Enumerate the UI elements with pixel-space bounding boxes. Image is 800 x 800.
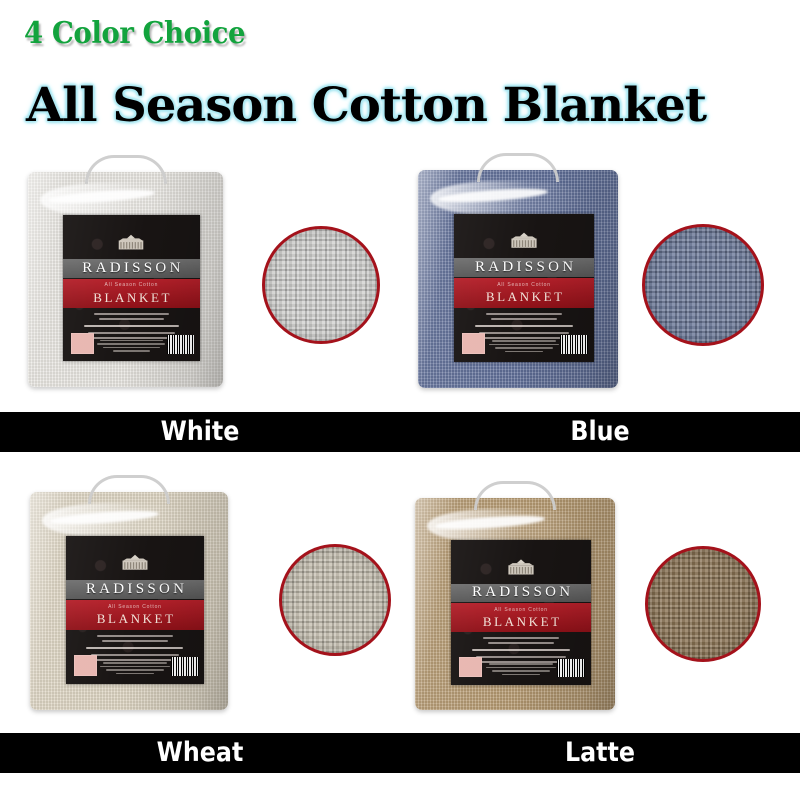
product-listing-image: 4 Color Choice All Season Cotton Blanket	[0, 0, 800, 800]
package-shading	[28, 172, 223, 387]
fabric-swatch-white	[262, 226, 380, 344]
fabric-swatch-blue	[642, 224, 764, 346]
caption-blue: Blue	[424, 412, 776, 452]
product-cell-blue: RADISSON All Season Cotton BLANKET	[400, 160, 800, 410]
page-title: All Season Cotton Blanket	[26, 78, 706, 133]
carry-handle	[85, 155, 167, 184]
package-shading	[30, 492, 228, 710]
caption-bar-row1: White Blue	[0, 412, 800, 452]
package-latte: RADISSON All Season Cotton BLANKET	[415, 498, 615, 710]
package-shading	[415, 498, 615, 710]
package-shading	[418, 170, 618, 388]
product-cell-white: RADISSON All Season Cotton BLANKET	[0, 160, 400, 410]
carry-handle	[88, 475, 170, 504]
fabric-swatch-latte	[645, 546, 761, 662]
carry-handle	[474, 481, 556, 510]
package-white: RADISSON All Season Cotton BLANKET	[28, 172, 223, 387]
caption-wheat: Wheat	[24, 733, 376, 773]
package-blue: RADISSON All Season Cotton BLANKET	[418, 170, 618, 388]
product-cell-wheat: RADISSON All Season Cotton BLANKET	[0, 470, 400, 725]
fabric-swatch-wheat	[279, 544, 391, 656]
caption-bar-row2: Wheat Latte	[0, 733, 800, 773]
caption-white: White	[24, 412, 376, 452]
product-cell-latte: RADISSON All Season Cotton BLANKET	[400, 470, 800, 725]
header-subtitle: 4 Color Choice	[24, 16, 245, 51]
caption-latte: Latte	[424, 733, 776, 773]
carry-handle	[477, 153, 559, 182]
package-wheat: RADISSON All Season Cotton BLANKET	[30, 492, 228, 710]
